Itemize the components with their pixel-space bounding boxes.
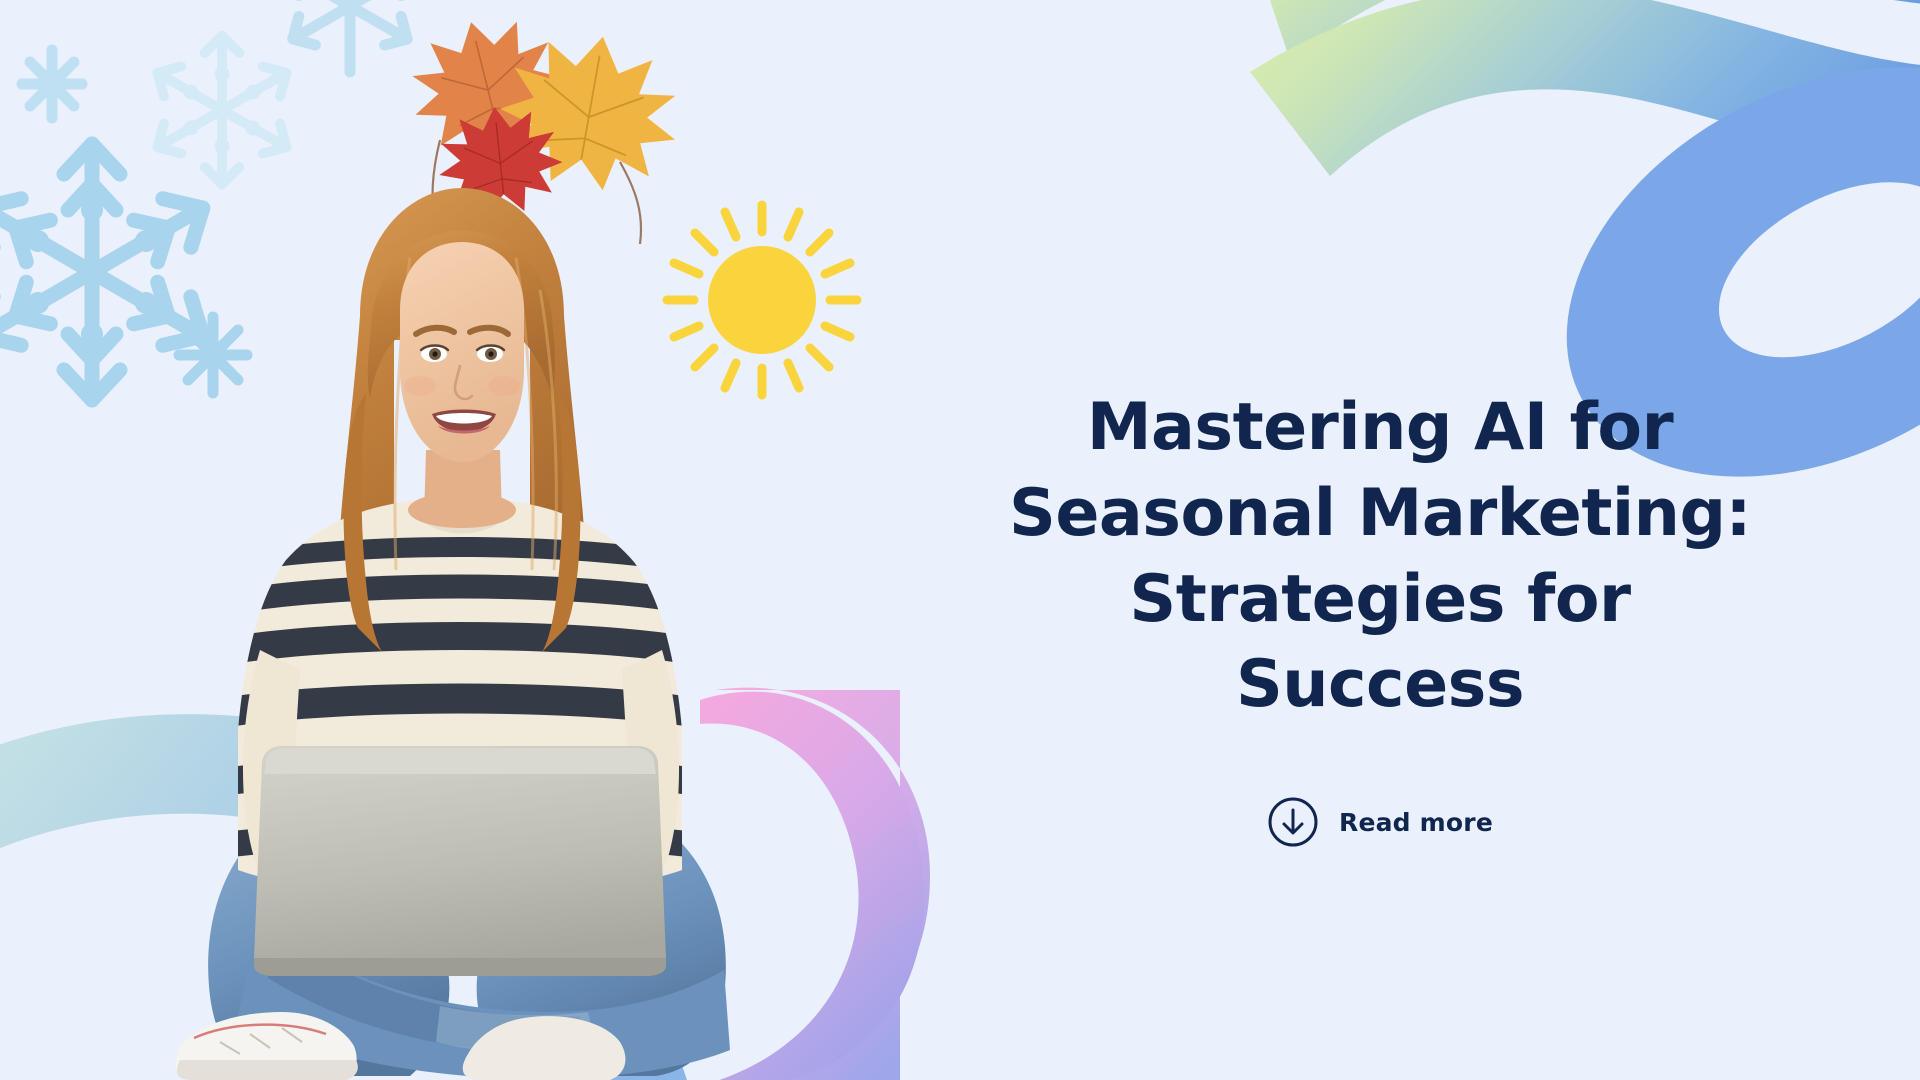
page-title: Mastering AI for Seasonal Marketing: Str… [985,385,1775,728]
gradient-wave-top-lower [1250,0,1920,176]
arrow-down-circle-icon[interactable] [1267,796,1319,848]
face [400,242,524,462]
read-more-label: Read more [1339,808,1493,837]
maple-leaf-orange [397,4,577,168]
hero-banner: Mastering AI for Seasonal Marketing: Str… [0,0,1920,1080]
snowflake-faint [149,36,295,185]
read-more-button[interactable]: Read more [985,796,1775,848]
snowflake-top [285,0,416,72]
snowflake-upper-star [22,50,82,118]
gradient-wave-top [1240,0,1920,60]
hero-text-block: Mastering AI for Seasonal Marketing: Str… [985,385,1775,848]
woman-with-laptop-photo [110,170,810,1080]
laptop [254,746,666,976]
